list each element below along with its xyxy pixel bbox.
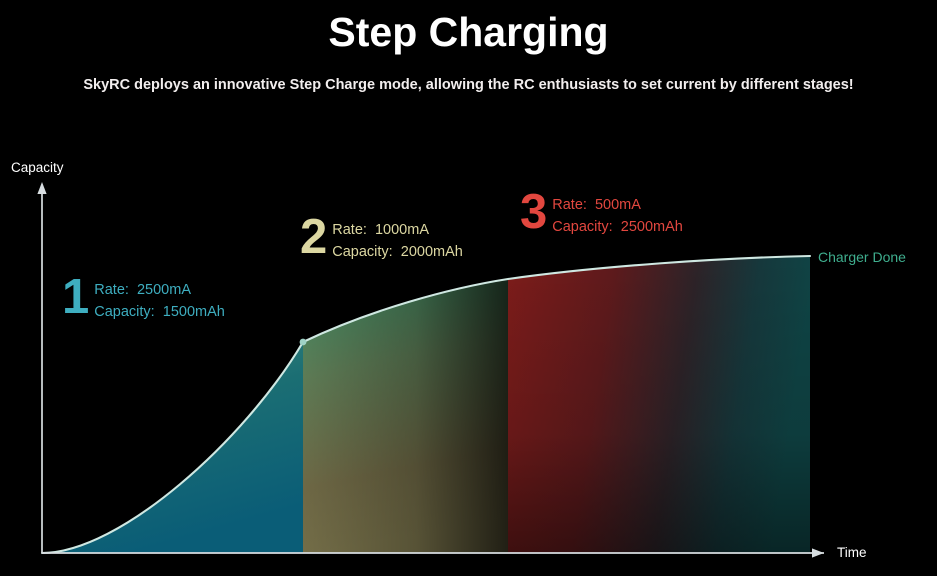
stage-annotation-3: 3 Rate: 500mA Capacity: 2500mAh (520, 192, 683, 238)
stage-3-number: 3 (520, 190, 547, 234)
x-axis-arrow-icon (812, 548, 824, 557)
stage-2-details: Rate: 1000mA Capacity: 2000mAh (332, 217, 463, 263)
area-fill-stage-1 (42, 342, 303, 553)
stage-3-capacity: Capacity: 2500mAh (552, 216, 683, 238)
x-axis-label: Time (837, 545, 867, 560)
stage-2-rate: Rate: 1000mA (332, 219, 463, 241)
stage-1-rate: Rate: 2500mA (94, 279, 225, 301)
area-fill-stage-2 (303, 279, 508, 553)
step-charging-chart: Capacity Time 1 Rate: 2500mA Capacity: 1… (0, 0, 937, 576)
stage-2-number: 2 (300, 215, 327, 259)
y-axis-label: Capacity (11, 160, 64, 175)
area-fill-stage-3 (508, 256, 810, 553)
slide-root: Step Charging SkyRC deploys an innovativ… (0, 0, 937, 576)
stage-3-rate: Rate: 500mA (552, 194, 683, 216)
y-axis-arrow-icon (37, 182, 46, 194)
stage-1-capacity: Capacity: 1500mAh (94, 301, 225, 323)
stage-annotation-1: 1 Rate: 2500mA Capacity: 1500mAh (62, 277, 225, 323)
stage-1-details: Rate: 2500mA Capacity: 1500mAh (94, 277, 225, 323)
stage-1-number: 1 (62, 275, 89, 319)
stage-2-capacity: Capacity: 2000mAh (332, 241, 463, 263)
stage-boundary-node (300, 339, 307, 346)
stage-3-details: Rate: 500mA Capacity: 2500mAh (552, 192, 683, 238)
charger-done-label: Charger Done (818, 249, 906, 265)
stage-annotation-2: 2 Rate: 1000mA Capacity: 2000mAh (300, 217, 463, 263)
